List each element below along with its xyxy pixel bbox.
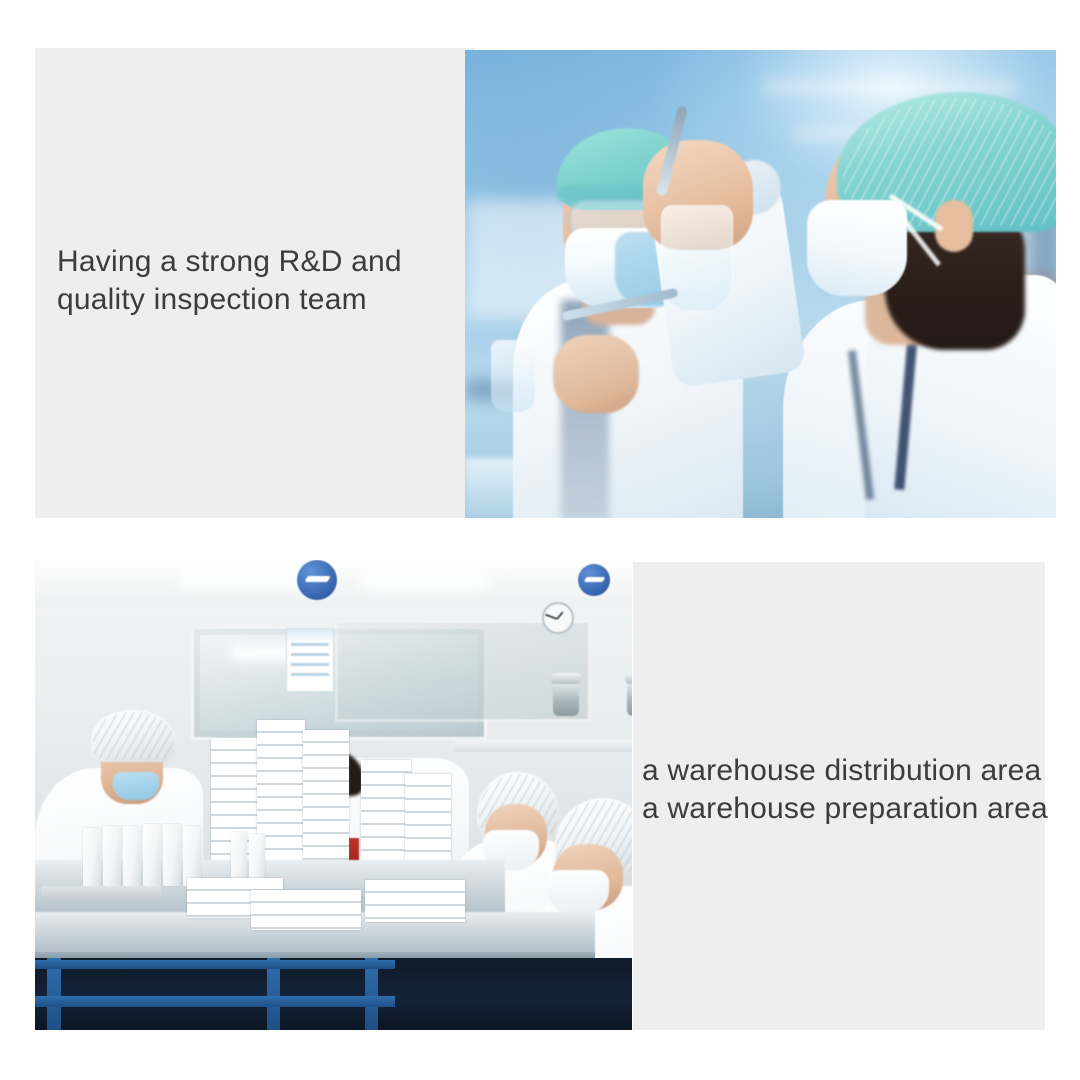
table-upper-brace <box>35 960 395 969</box>
worker-4-mask <box>547 870 609 914</box>
product-box <box>163 824 181 886</box>
box-stack-flat <box>251 890 361 930</box>
blue-badge-icon <box>297 560 337 600</box>
steel-pot-icon <box>627 682 632 716</box>
lab-inspection-photo <box>465 50 1056 518</box>
product-box <box>231 832 247 884</box>
back-counter <box>455 740 632 752</box>
box-side-face <box>41 886 161 900</box>
bottom-caption-line-1: a warehouse distribution area <box>642 752 1048 790</box>
product-box <box>183 826 201 886</box>
sign-line <box>291 673 330 676</box>
sample-vial-icon <box>491 340 535 412</box>
warehouse-packing-photo <box>35 560 632 1030</box>
product-box <box>123 826 141 886</box>
clock-minute-hand <box>545 614 557 620</box>
top-caption: Having a strong R&D and quality inspecti… <box>57 243 402 319</box>
top-caption-line-1: Having a strong R&D and <box>57 243 402 281</box>
wall-clock-icon <box>542 602 574 634</box>
bottom-caption: a warehouse distribution area a warehous… <box>642 752 1048 828</box>
clock-hour-hand <box>556 611 563 619</box>
box-stack <box>303 730 349 880</box>
steel-pot-icon <box>553 682 579 716</box>
table-cross-brace <box>35 996 395 1007</box>
sign-line <box>291 653 330 656</box>
ceiling-light-icon <box>185 574 315 584</box>
worker-1-hairnet-texture <box>93 712 173 760</box>
product-box <box>103 826 121 886</box>
box-stack-flat <box>365 880 465 922</box>
product-box <box>83 828 101 886</box>
sign-line <box>291 643 330 646</box>
product-box <box>143 824 161 886</box>
lab-scene <box>465 50 1056 518</box>
product-box <box>249 834 265 884</box>
worker-1-mask <box>113 772 159 800</box>
cleanroom-scene <box>35 560 632 1030</box>
bottom-caption-line-2: a warehouse preparation area <box>642 790 1048 828</box>
blue-badge-icon <box>578 564 610 596</box>
technician-a-hand <box>553 335 639 413</box>
wall-notice-sign <box>286 628 334 692</box>
technician-b-mask <box>807 200 907 296</box>
sign-line <box>291 663 330 666</box>
top-caption-line-2: quality inspection team <box>57 281 402 319</box>
ceiling-light-icon <box>365 576 485 585</box>
